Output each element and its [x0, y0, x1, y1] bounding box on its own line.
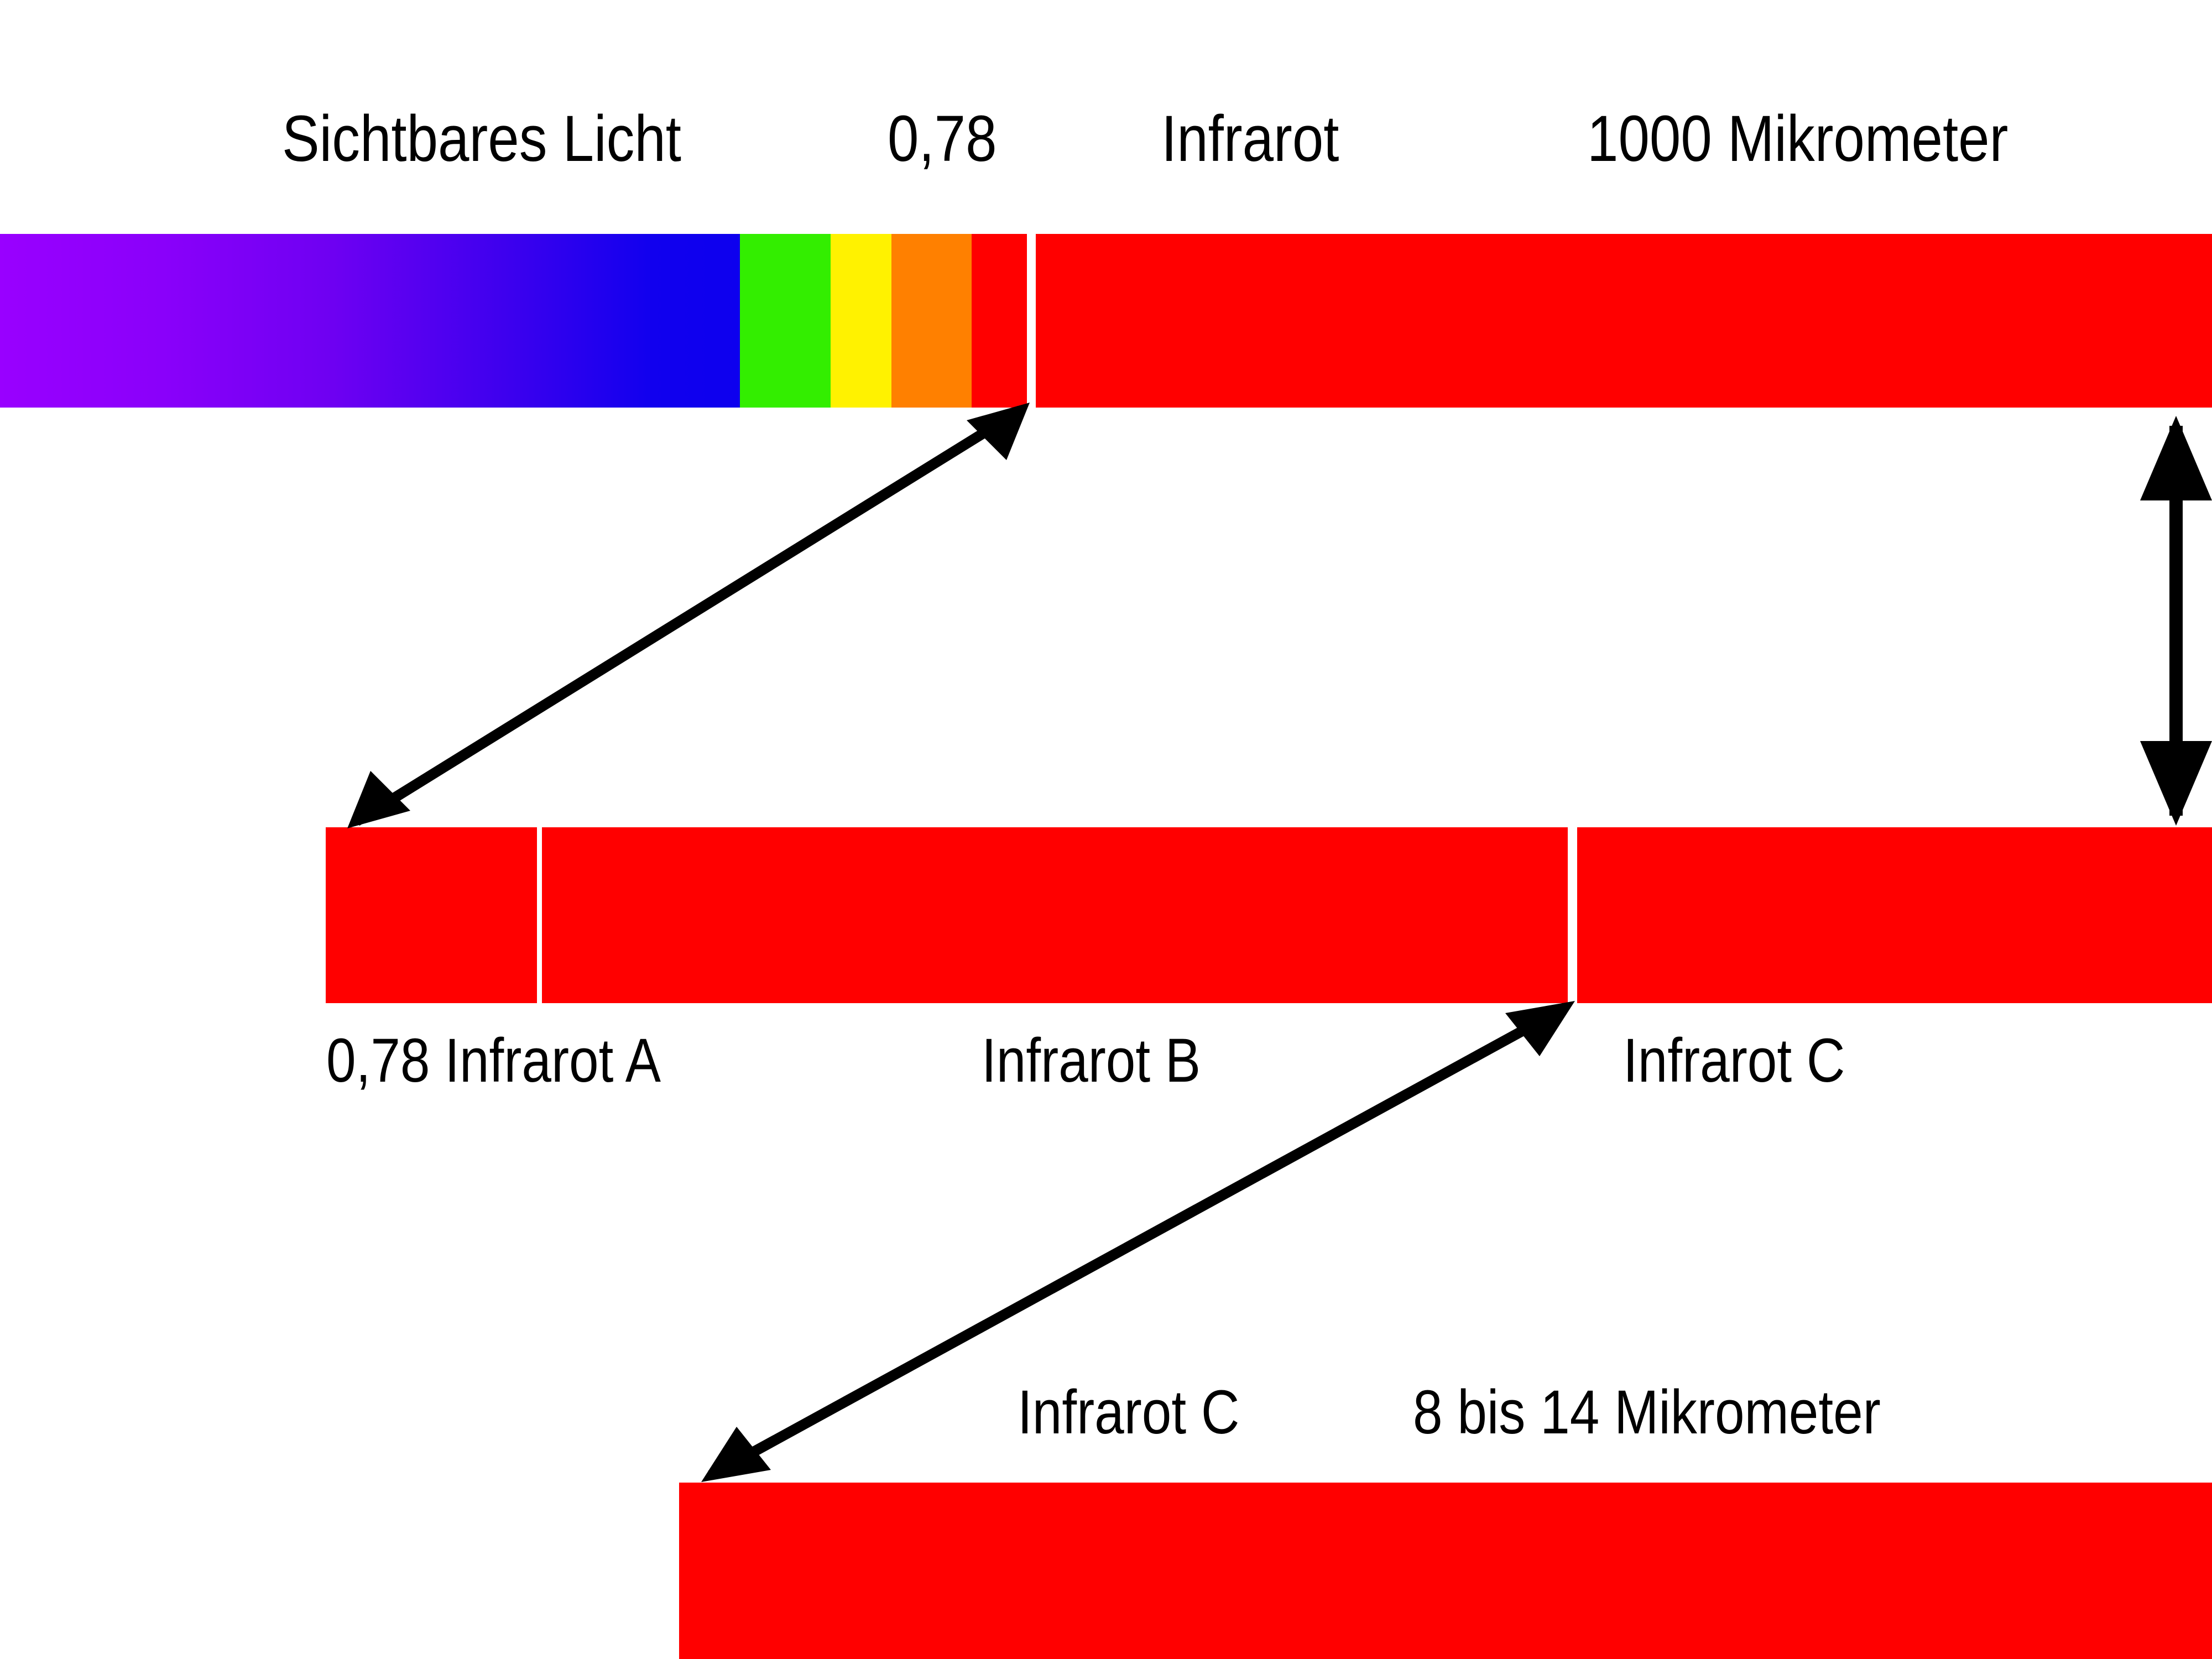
infrared-segment-c [1577, 827, 2212, 1003]
spectrum-band-red [972, 234, 1027, 408]
label-infrared-upper-bound: 1000 Mikrometer [1587, 106, 2008, 171]
label-infrarot-a: 0,78 Infrarot A [326, 1030, 661, 1092]
ir-spectrum-diagram: Sichtbares Licht 0,78 Infrarot 1000 Mikr… [0, 0, 2212, 1659]
infrared-c-detail-bar [679, 1483, 2212, 1659]
spectrum-height-arrow [2140, 416, 2212, 826]
label-visible-upper-bound: 0,78 [888, 106, 997, 171]
label-sichtbares-licht: Sichtbares Licht [282, 106, 681, 171]
label-infrarot: Infrarot [1161, 106, 1339, 171]
spectrum-band-green [740, 234, 831, 408]
infrared-subband-row [0, 827, 2212, 1003]
infrared-segment-b [542, 827, 1568, 1003]
spectrum-band-yellow [831, 234, 891, 408]
infrared-segment-a [326, 827, 537, 1003]
spectrum-band-orange [891, 234, 972, 408]
spectrum-band-infrared [1036, 234, 2212, 408]
label-infrarot-c: Infrarot C [1623, 1030, 1845, 1092]
label-detail-infrarot-c: Infrarot C [1018, 1381, 1239, 1443]
label-infrarot-b: Infrarot B [982, 1030, 1201, 1092]
label-detail-range: 8 bis 14 Mikrometer [1413, 1381, 1881, 1443]
zoom-arrow-spectrum-to-infrared [347, 403, 1030, 828]
spectrum-band-violet-blue [0, 234, 740, 408]
spectrum-bar [0, 234, 2212, 408]
